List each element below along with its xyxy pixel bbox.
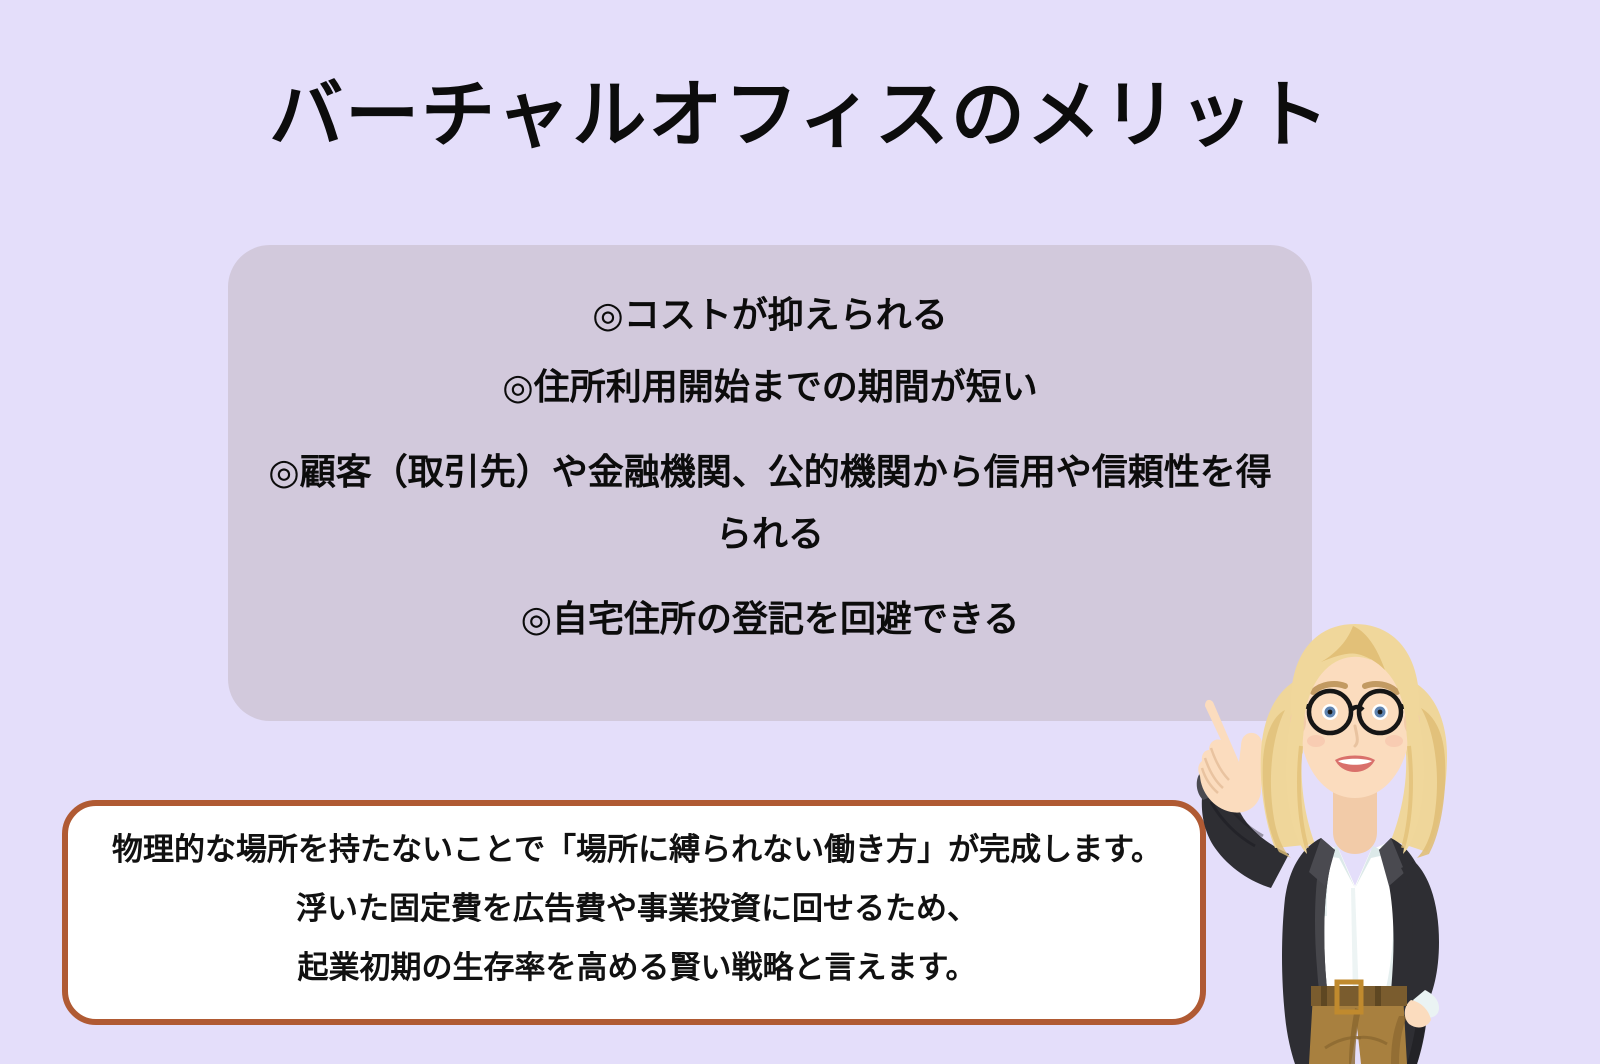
callout-text: 物理的な場所を持たないことで「場所に縛られない働き方」が完成します。 浮いた固定…	[92, 834, 1182, 983]
neck	[1333, 792, 1377, 854]
businesswoman-figure-icon	[1185, 596, 1515, 1064]
businesswoman-pointing-up-illustration	[1185, 596, 1515, 1064]
merit-item: ◎コストが抑えられる	[268, 297, 1272, 333]
callout-line: 起業初期の生存率を高める賢い戦略と言えます。	[92, 952, 1182, 983]
callout-line: 物理的な場所を持たないことで「場所に縛られない働き方」が完成します。	[92, 834, 1182, 865]
page-title: バーチャルオフィスのメリット	[0, 74, 1600, 155]
merits-list: ◎コストが抑えられる ◎住所利用開始までの期間が短い ◎顧客（取引先）や金融機関…	[268, 297, 1272, 673]
merit-item: ◎顧客（取引先）や金融機関、公的機関から信用や信頼性を得られる	[268, 441, 1272, 565]
slide-canvas: バーチャルオフィスのメリット ◎コストが抑えられる ◎住所利用開始までの期間が短…	[0, 0, 1600, 1064]
merits-card: ◎コストが抑えられる ◎住所利用開始までの期間が短い ◎顧客（取引先）や金融機関…	[228, 245, 1312, 721]
merit-item: ◎住所利用開始までの期間が短い	[268, 369, 1272, 405]
pointing-hand-icon	[1198, 700, 1263, 813]
callout-line: 浮いた固定費を広告費や事業投資に回せるため、	[92, 893, 1182, 924]
merit-item: ◎自宅住所の登記を回避できる	[268, 601, 1272, 637]
callout-box: 物理的な場所を持たないことで「場所に縛られない働き方」が完成します。 浮いた固定…	[62, 800, 1206, 1025]
